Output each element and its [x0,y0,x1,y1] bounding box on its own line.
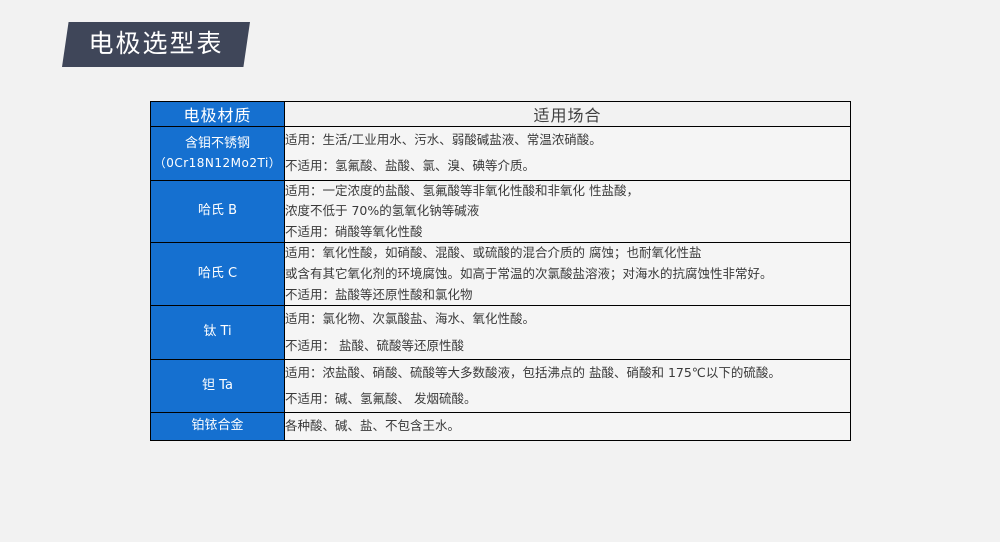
column-header-usage: 适用场合 [285,102,851,127]
usage-cell: 适用：氧化性酸，如硝酸、混酸、或硫酸的混合介质的 腐蚀；也耐氧化性盐 或含有其它… [285,243,851,306]
usage-line: 不适用： 盐酸、硫酸等还原性酸 [285,333,850,359]
material-cell: 钛 Ti [151,306,285,360]
material-name: 钛 Ti [203,324,231,339]
column-header-material: 电极材质 [151,102,285,127]
usage-line: 适用：氯化物、次氯酸盐、海水、氧化性酸。 [285,306,850,332]
usage-cell: 适用：生活/工业用水、污水、弱酸碱盐液、常温浓硝酸。 不适用：氢氟酸、盐酸、氯、… [285,127,851,181]
material-cell: 哈氏 B [151,180,285,243]
material-name: 钽 Ta [202,378,233,393]
usage-cell: 适用：浓盐酸、硝酸、硫酸等大多数酸液，包括沸点的 盐酸、硝酸和 175℃以下的硫… [285,359,851,413]
table-row: 钛 Ti 适用：氯化物、次氯酸盐、海水、氧化性酸。 不适用： 盐酸、硫酸等还原性… [151,306,851,360]
table-row: 哈氏 B 适用：一定浓度的盐酸、氢氟酸等非氧化性酸和非氧化 性盐酸， 浓度不低于… [151,180,851,243]
table-row: 钽 Ta 适用：浓盐酸、硝酸、硫酸等大多数酸液，包括沸点的 盐酸、硝酸和 175… [151,359,851,413]
usage-line: 适用：氧化性酸，如硝酸、混酸、或硫酸的混合介质的 腐蚀；也耐氧化性盐 [285,243,850,264]
material-name: 哈氏 C [198,266,237,281]
material-grade: （0Cr18N12Mo2Ti） [151,154,284,173]
material-cell: 含钼不锈钢 （0Cr18N12Mo2Ti） [151,127,285,181]
table-header-row: 电极材质 适用场合 [151,102,851,127]
usage-cell: 适用：氯化物、次氯酸盐、海水、氧化性酸。 不适用： 盐酸、硫酸等还原性酸 [285,306,851,360]
material-cell: 哈氏 C [151,243,285,306]
usage-line: 不适用：碱、氢氟酸、 发烟硫酸。 [285,386,850,412]
usage-line: 浓度不低于 70%的氢氧化钠等碱液 [285,201,850,222]
usage-line: 不适用：盐酸等还原性酸和氯化物 [285,285,850,306]
electrode-selection-table: 电极材质 适用场合 含钼不锈钢 （0Cr18N12Mo2Ti） 适用：生活/工业… [150,101,851,441]
material-cell: 铂铱合金 [151,413,285,440]
usage-cell: 适用：一定浓度的盐酸、氢氟酸等非氧化性酸和非氧化 性盐酸， 浓度不低于 70%的… [285,180,851,243]
usage-line: 不适用：氢氟酸、盐酸、氯、溴、碘等介质。 [285,153,850,179]
material-cell: 钽 Ta [151,359,285,413]
usage-cell: 各种酸、碱、盐、不包含王水。 [285,413,851,440]
material-name: 铂铱合金 [191,418,243,433]
page-title-banner: 电极选型表 [62,22,250,67]
usage-line: 适用：生活/工业用水、污水、弱酸碱盐液、常温浓硝酸。 [285,127,850,153]
usage-line: 适用：浓盐酸、硝酸、硫酸等大多数酸液，包括沸点的 盐酸、硝酸和 175℃以下的硫… [285,360,850,386]
usage-line: 或含有其它氧化剂的环境腐蚀。如高于常温的次氯酸盐溶液；对海水的抗腐蚀性非常好。 [285,264,850,285]
table-body: 电极材质 适用场合 含钼不锈钢 （0Cr18N12Mo2Ti） 适用：生活/工业… [151,102,851,441]
table-row: 含钼不锈钢 （0Cr18N12Mo2Ti） 适用：生活/工业用水、污水、弱酸碱盐… [151,127,851,181]
table-row: 铂铱合金 各种酸、碱、盐、不包含王水。 [151,413,851,440]
table-row: 哈氏 C 适用：氧化性酸，如硝酸、混酸、或硫酸的混合介质的 腐蚀；也耐氧化性盐 … [151,243,851,306]
usage-line: 适用：一定浓度的盐酸、氢氟酸等非氧化性酸和非氧化 性盐酸， [285,181,850,202]
page-title: 电极选型表 [62,22,250,67]
usage-line: 各种酸、碱、盐、不包含王水。 [285,413,850,439]
material-name: 哈氏 B [198,203,237,218]
material-name: 含钼不锈钢 [185,136,250,151]
usage-line: 不适用：硝酸等氧化性酸 [285,222,850,243]
